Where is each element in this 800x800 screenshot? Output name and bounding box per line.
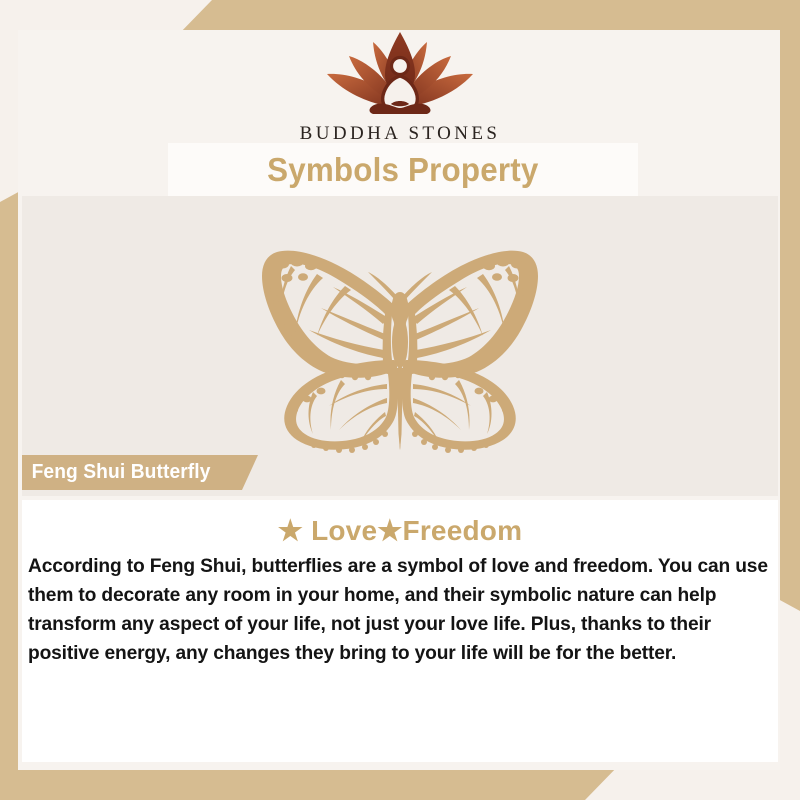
section-label-text: Feng Shui Butterfly [22, 461, 210, 484]
hero-section [22, 196, 778, 496]
butterfly-icon [22, 196, 778, 496]
section-label-ribbon: Feng Shui Butterfly [22, 455, 258, 490]
promo-card: BUDDHA STONES Symbols Property [0, 0, 800, 800]
brand-name: BUDDHA STONES [0, 123, 800, 145]
body-paragraph: According to Feng Shui, butterflies are … [24, 552, 776, 668]
title-band: Symbols Property [168, 143, 638, 196]
brand-logo: BUDDHA STONES [0, 24, 800, 145]
description-panel: ★ Love★Freedom According to Feng Shui, b… [22, 500, 778, 762]
subheading: ★ Love★Freedom [22, 514, 778, 547]
lotus-meditation-figure-icon [0, 24, 800, 121]
page-title: Symbols Property [267, 151, 538, 189]
